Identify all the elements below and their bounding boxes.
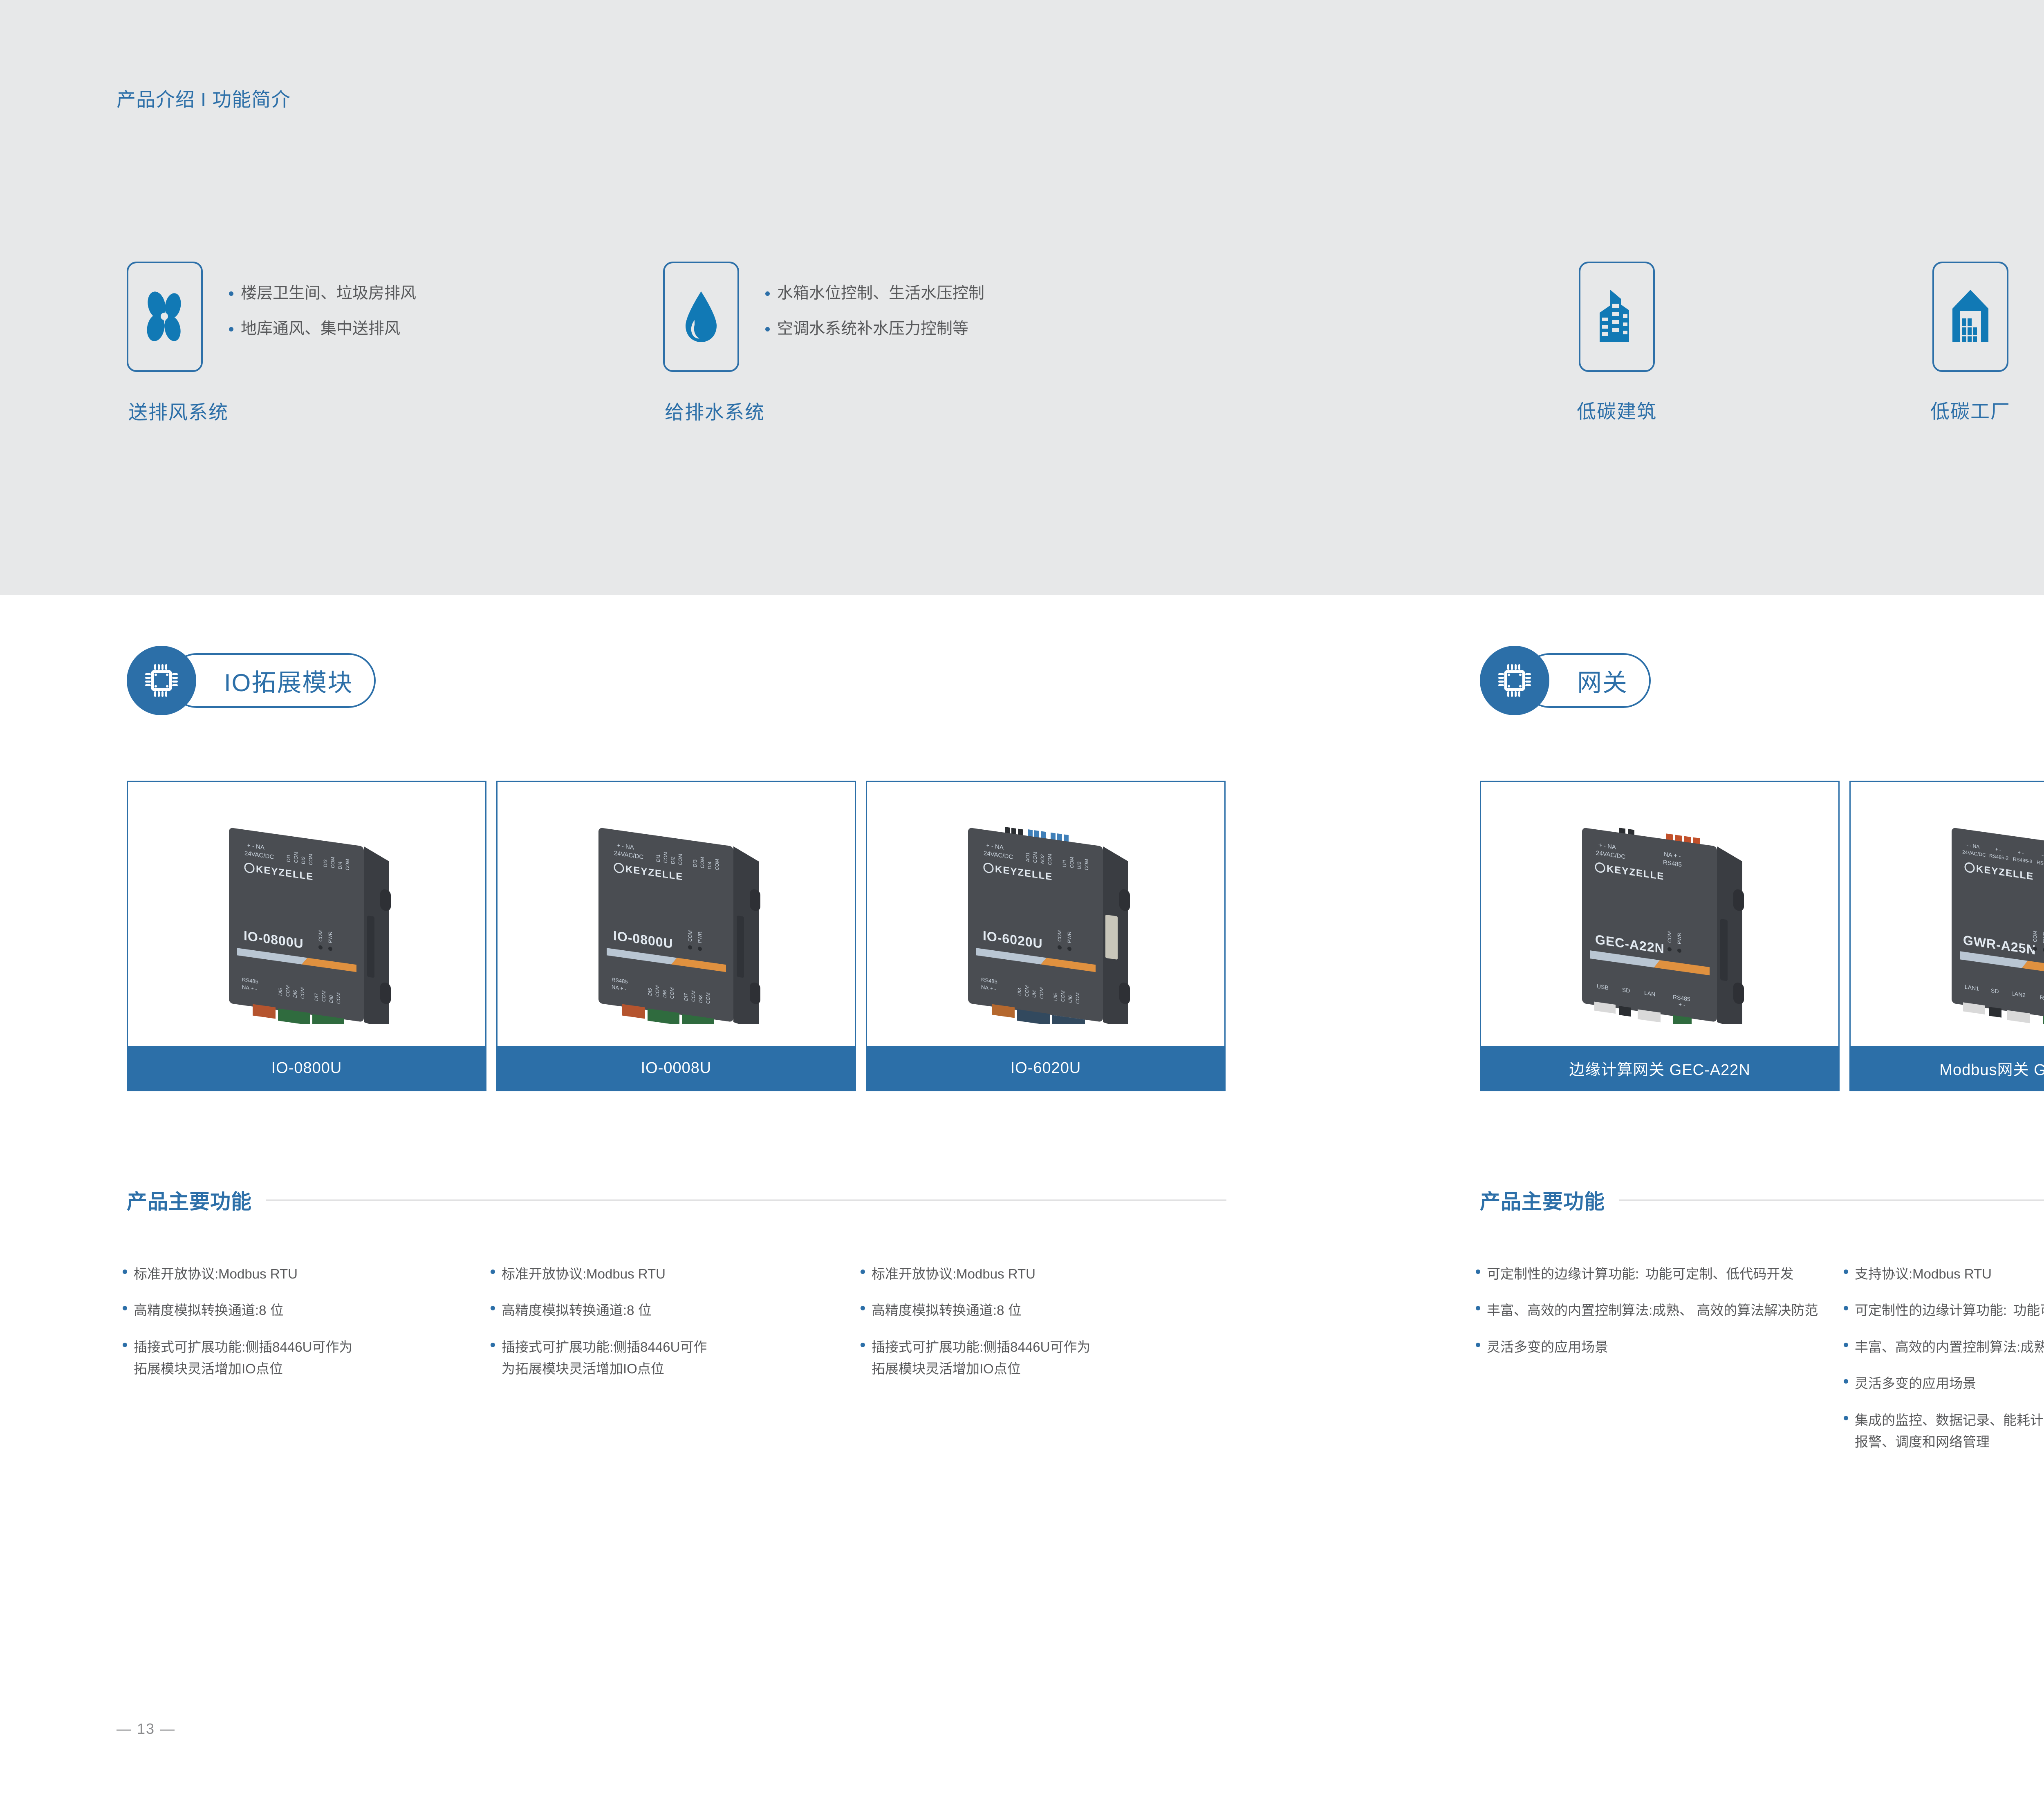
svg-text:UI2: UI2 [1076, 861, 1082, 870]
feature-text: 标准开放协议:Modbus RTU [502, 1263, 666, 1285]
svg-text:COM: COM [345, 858, 350, 871]
gateway-product-card-row: + - NA 24VAC/DC NA + - RS485 KEYZELLE GE… [1480, 781, 2044, 1091]
svg-text:DI1: DI1 [286, 854, 291, 862]
bullet-text: 空调水系统补水压力控制等 [777, 321, 968, 337]
low-carbon-factory-block: 低碳工厂 [1917, 262, 2024, 424]
bullet-dot-icon [1844, 1270, 1848, 1274]
feature-line: 标准开放协议:Modbus RTU [502, 1266, 666, 1281]
device-io-0008u: + - NA 24VAC/DC DI1 COM DI2 COM DI3 COM … [549, 804, 803, 1024]
feature-line: 为拓展模块灵活增加IO点位 [502, 1361, 664, 1376]
svg-text:COM: COM [330, 856, 336, 869]
svg-text:PWR: PWR [1676, 932, 1682, 945]
bullet-dot-icon [861, 1306, 865, 1310]
bullet-dot-icon [491, 1306, 495, 1310]
product-card[interactable]: + - NA 24VAC/DC DI1 COM DI2 COM DI3 COM … [127, 781, 486, 1091]
low-carbon-caption: 低碳工厂 [1917, 396, 2024, 424]
svg-text:UI6: UI6 [1067, 995, 1073, 1003]
gateway-feature-columns: 可定制性的边缘计算功能: 功能可定制、低代码开发 丰富、高效的内置控制算法:成熟… [1476, 1263, 2044, 1468]
product-label: IO-6020U [867, 1046, 1224, 1090]
water-drop-icon [681, 290, 722, 344]
product-card[interactable]: + - NA 24VAC/DC DI1 COM DI2 COM DI3 COM … [496, 781, 856, 1091]
feature-text: 灵活多变的应用场景 [1487, 1336, 1608, 1358]
svg-text:PWR: PWR [2042, 931, 2044, 944]
list-item: 插接式可扩展功能:侧插8446U可作 为拓展模块灵活增加IO点位 [491, 1336, 861, 1380]
list-item: 高精度模拟转换通道:8 位 [861, 1299, 1230, 1321]
page-number-left: — 13 — [117, 1720, 175, 1738]
svg-text:DI1: DI1 [655, 854, 661, 862]
feature-line: 支持协议:Modbus RTU [1855, 1266, 1992, 1281]
list-item: 丰富、高效的内置控制算法:成熟、 高效的算法解决方案 [1844, 1336, 2044, 1358]
feature-column: 可定制性的边缘计算功能: 功能可定制、低代码开发 丰富、高效的内置控制算法:成熟… [1476, 1263, 1844, 1468]
low-carbon-caption: 低碳建筑 [1564, 396, 1670, 424]
bullet-dot-icon [1476, 1343, 1480, 1347]
feature-line: 拓展模块灵活增加IO点位 [134, 1361, 283, 1376]
svg-text:COM: COM [308, 853, 314, 866]
svg-text:DI3: DI3 [323, 859, 328, 868]
product-photo: + - NA + - + - + - + - 24VAC/DC RS485-2 … [1851, 782, 2044, 1046]
svg-text:COM: COM [1075, 992, 1080, 1004]
bullet-dot-icon [765, 291, 770, 296]
bullet-dot-icon [229, 327, 233, 331]
list-item: 可定制性的边缘计算功能: 功能可定制、低代码开发 [1844, 1299, 2044, 1321]
brochure-spread: 产品介绍 I 功能简介 产品介绍 I 功能简介 楼层卫生间、垃圾房 [0, 0, 2044, 1798]
water-drop-icon-frame [663, 262, 739, 372]
product-label: 边缘计算网关 GEC-A22N [1481, 1046, 1838, 1090]
bullet-dot-icon [1844, 1306, 1848, 1310]
list-item: 标准开放协议:Modbus RTU [123, 1263, 491, 1285]
feature-text: 标准开放协议:Modbus RTU [134, 1263, 298, 1285]
svg-text:COM: COM [654, 985, 660, 997]
product-label: Modbus网关 GWR-A25N [1851, 1046, 2044, 1090]
svg-text:COM: COM [1039, 987, 1044, 999]
svg-text:COM: COM [699, 856, 705, 869]
list-item: 灵活多变的应用场景 [1476, 1336, 1844, 1358]
list-item: 灵活多变的应用场景 [1844, 1373, 2044, 1394]
feature-line: 报警、调度和网络管理 [1855, 1434, 1990, 1449]
bullet-text: 水箱水位控制、生活水压控制 [777, 285, 984, 301]
feature-line: 灵活多变的应用场景 [1487, 1339, 1608, 1355]
svg-text:AO2: AO2 [1040, 854, 1045, 864]
bullet-dot-icon [1844, 1379, 1848, 1384]
section-title: 产品主要功能 [1480, 1185, 1605, 1215]
feature-line: 插接式可扩展功能:侧插8446U可作 [502, 1339, 707, 1355]
feature-line: 拓展模块灵活增加IO点位 [872, 1361, 1021, 1376]
svg-text:COM: COM [663, 851, 668, 864]
heading-rule [1619, 1200, 2044, 1200]
list-item: 支持协议:Modbus RTU [1844, 1263, 2044, 1285]
feature-text: 标准开放协议:Modbus RTU [872, 1263, 1035, 1285]
svg-text:COM: COM [321, 990, 327, 1002]
device-gec-a22n: + - NA 24VAC/DC NA + - RS485 KEYZELLE GE… [1533, 804, 1786, 1024]
feature-line: 高精度模拟转换通道:8 位 [872, 1303, 1022, 1318]
section-title: 产品主要功能 [127, 1185, 252, 1215]
product-photo: + - NA 24VAC/DC NA + - RS485 KEYZELLE GE… [1481, 782, 1838, 1046]
gateway-features-heading: 产品主要功能 [1480, 1185, 2044, 1215]
feature-line: 高精度模拟转换通道:8 位 [502, 1303, 652, 1318]
feature-line: 可定制性的边缘计算功能: [1855, 1303, 2007, 1318]
svg-text:COM: COM [669, 987, 675, 999]
svg-text:DI6: DI6 [662, 990, 668, 998]
svg-text:COM: COM [705, 992, 711, 1004]
svg-text:+ -: + - [2042, 853, 2044, 859]
application-caption: 给排水系统 [665, 396, 765, 425]
device-gwr-a25n: + - NA + - + - + - + - 24VAC/DC RS485-2 … [1903, 804, 2044, 1024]
bullet-dot-icon [1476, 1306, 1480, 1310]
list-item: 插接式可扩展功能:侧插8446U可作为 拓展模块灵活增加IO点位 [861, 1336, 1230, 1380]
bullet-dot-icon [491, 1343, 495, 1347]
feature-line: 集成的监控、数据记录、能耗计量、 [1855, 1413, 2044, 1428]
svg-text:COM: COM [687, 930, 693, 942]
list-item: 水箱水位控制、生活水压控制 [765, 285, 984, 301]
list-item: 标准开放协议:Modbus RTU [491, 1263, 861, 1285]
svg-text:PWR: PWR [1067, 931, 1072, 943]
feature-text: 高精度模拟转换通道:8 位 [502, 1299, 652, 1321]
svg-text:COM: COM [1667, 931, 1672, 943]
feature-line: 高效的算法解决防范 [1697, 1303, 1818, 1318]
device-io-6020u: + - NA 24VAC/DC AO1 COM AO2 COM UI1 COM … [919, 804, 1172, 1024]
feature-text: 可定制性的边缘计算功能: 功能可定制、低代码开发 [1487, 1263, 1793, 1285]
bullet-dot-icon [123, 1306, 127, 1310]
list-item: 标准开放协议:Modbus RTU [861, 1263, 1230, 1285]
section-badge-label: 网关 [1577, 663, 1628, 699]
feature-text: 支持协议:Modbus RTU [1855, 1263, 1992, 1285]
product-photo: + - NA 24VAC/DC AO1 COM AO2 COM UI1 COM … [867, 782, 1224, 1046]
chip-icon [127, 646, 196, 715]
svg-text:COM: COM [690, 990, 696, 1002]
feature-line: 丰富、高效的内置控制算法:成熟、 [1855, 1339, 2044, 1355]
svg-text:AO1: AO1 [1025, 852, 1031, 862]
svg-text:DI2: DI2 [300, 856, 306, 864]
svg-text:SD: SD [1622, 986, 1630, 994]
svg-text:UI1: UI1 [1062, 859, 1067, 868]
product-card[interactable]: + - NA 24VAC/DC AO1 COM AO2 COM UI1 COM … [866, 781, 1226, 1091]
feature-line: 插接式可扩展功能:侧插8446U可作为 [134, 1339, 352, 1355]
svg-text:PWR: PWR [327, 931, 333, 943]
section-badge-label: IO拓展模块 [224, 663, 353, 699]
svg-text:COM: COM [1047, 853, 1053, 866]
device-io-0800u: + - NA 24VAC/DC DI1 COM DI2 COM DI3 COM … [180, 804, 433, 1024]
feature-column: 标准开放协议:Modbus RTU 高精度模拟转换通道:8 位 插接式可扩展功能… [123, 1263, 491, 1395]
bullet-dot-icon [765, 327, 770, 331]
feature-column: 支持协议:Modbus RTU 可定制性的边缘计算功能: 功能可定制、低代码开发… [1844, 1263, 2044, 1468]
svg-text:DI7: DI7 [314, 993, 319, 1001]
svg-text:+ -: + - [1995, 846, 2001, 853]
bullet-dot-icon [123, 1343, 127, 1347]
feature-text: 可定制性的边缘计算功能: 功能可定制、低代码开发 [1855, 1299, 2044, 1321]
bullet-text: 地库通风、集中送排风 [241, 321, 400, 337]
svg-text:DI5: DI5 [278, 987, 283, 996]
page-header-left: 产品介绍 I 功能简介 [117, 84, 291, 112]
svg-text:COM: COM [1069, 856, 1075, 869]
feature-column: 标准开放协议:Modbus RTU 高精度模拟转换通道:8 位 插接式可扩展功能… [861, 1263, 1230, 1395]
bullet-dot-icon [123, 1270, 127, 1274]
svg-text:DI5: DI5 [647, 987, 653, 996]
svg-text:+ -: + - [1679, 1001, 1685, 1008]
list-item: 插接式可扩展功能:侧插8446U可作为 拓展模块灵活增加IO点位 [123, 1336, 491, 1380]
svg-text:COM: COM [677, 853, 683, 866]
bullet-dot-icon [1476, 1270, 1480, 1274]
factory-icon-frame [1932, 262, 2008, 372]
bullet-dot-icon [491, 1270, 495, 1274]
bullet-dot-icon [861, 1343, 865, 1347]
feature-line: 灵活多变的应用场景 [1855, 1376, 1976, 1391]
feature-line: 功能可定制、低代码开发 [2010, 1303, 2044, 1318]
svg-text:DI4: DI4 [707, 861, 713, 870]
svg-text:COM: COM [285, 985, 291, 997]
svg-text:DI8: DI8 [698, 995, 704, 1003]
feature-text: 丰富、高效的内置控制算法:成熟、 高效的算法解决防范 [1487, 1299, 1818, 1321]
feature-text: 插接式可扩展功能:侧插8446U可作 为拓展模块灵活增加IO点位 [502, 1336, 861, 1380]
feature-text: 集成的监控、数据记录、能耗计量、 报警、调度和网络管理 [1855, 1409, 2044, 1453]
svg-text:DI4: DI4 [337, 861, 343, 870]
svg-text:SD: SD [1991, 987, 1999, 995]
low-carbon-building-block: 低碳建筑 [1564, 262, 1670, 424]
svg-text:COM: COM [1057, 930, 1062, 942]
product-photo: + - NA 24VAC/DC DI1 COM DI2 COM DI3 COM … [498, 782, 855, 1046]
fan-icon [140, 291, 189, 343]
application-block-water: 水箱水位控制、生活水压控制 空调水系统补水压力控制等 给排水系统 [663, 262, 1154, 441]
bullet-text: 楼层卫生间、垃圾房排风 [241, 285, 416, 301]
svg-text:DI6: DI6 [292, 990, 298, 998]
svg-text:+ -: + - [2018, 849, 2024, 856]
water-bullet-list: 水箱水位控制、生活水压控制 空调水系统补水压力控制等 [765, 285, 984, 337]
product-label: IO-0008U [498, 1046, 855, 1090]
bullet-dot-icon [861, 1270, 865, 1274]
feature-line: 丰富、高效的内置控制算法:成熟、 [1487, 1303, 1693, 1318]
feature-text: 高精度模拟转换通道:8 位 [872, 1299, 1022, 1321]
io-features-heading: 产品主要功能 [127, 1185, 1226, 1215]
chip-icon [1480, 646, 1549, 715]
io-product-card-row: + - NA 24VAC/DC DI1 COM DI2 COM DI3 COM … [127, 781, 1226, 1091]
product-photo: + - NA 24VAC/DC DI1 COM DI2 COM DI3 COM … [128, 782, 485, 1046]
factory-icon [1948, 287, 1993, 347]
product-label: IO-0800U [128, 1046, 485, 1090]
svg-text:DI3: DI3 [692, 859, 698, 868]
heading-rule [266, 1200, 1226, 1200]
svg-text:COM: COM [1084, 858, 1089, 871]
feature-line: 插接式可扩展功能:侧插8446U可作为 [872, 1339, 1090, 1355]
feature-line: 标准开放协议:Modbus RTU [134, 1266, 298, 1281]
application-block-ventilation: 楼层卫生间、垃圾房排风 地库通风、集中送排风 送排风系统 [127, 262, 617, 441]
section-badge-pill: IO拓展模块 [169, 653, 376, 708]
svg-text:UI4: UI4 [1031, 990, 1037, 998]
office-building-icon [1594, 287, 1640, 347]
svg-text:DI8: DI8 [328, 995, 334, 1003]
list-item: 地库通风、集中送排风 [229, 321, 416, 337]
svg-text:COM: COM [293, 851, 299, 864]
svg-text:DI2: DI2 [670, 856, 676, 864]
svg-text:COM: COM [1024, 985, 1030, 997]
svg-text:COM: COM [714, 858, 720, 871]
list-item: 丰富、高效的内置控制算法:成熟、 高效的算法解决防范 [1476, 1299, 1844, 1321]
feature-line: 标准开放协议:Modbus RTU [872, 1266, 1035, 1281]
product-card[interactable]: + - NA 24VAC/DC NA + - RS485 KEYZELLE GE… [1480, 781, 1840, 1091]
bullet-dot-icon [1844, 1343, 1848, 1347]
feature-text: 高精度模拟转换通道:8 位 [134, 1299, 284, 1321]
feature-text: 插接式可扩展功能:侧插8446U可作为 拓展模块灵活增加IO点位 [134, 1336, 491, 1380]
feature-line: 高精度模拟转换通道:8 位 [134, 1303, 284, 1318]
fan-icon-frame [127, 262, 203, 372]
bullet-dot-icon [229, 291, 233, 296]
office-building-icon-frame [1579, 262, 1655, 372]
list-item: 楼层卫生间、垃圾房排风 [229, 285, 416, 301]
application-caption: 送排风系统 [128, 396, 229, 425]
svg-text:COM: COM [1032, 851, 1038, 864]
svg-text:COM: COM [336, 992, 341, 1004]
ventilation-bullet-list: 楼层卫生间、垃圾房排风 地库通风、集中送排风 [229, 285, 416, 337]
product-card[interactable]: + - NA + - + - + - + - 24VAC/DC RS485-2 … [1849, 781, 2044, 1091]
list-item: 高精度模拟转换通道:8 位 [123, 1299, 491, 1321]
feature-text: 灵活多变的应用场景 [1855, 1373, 1976, 1394]
svg-text:COM: COM [300, 987, 305, 999]
svg-text:UI3: UI3 [1017, 987, 1022, 996]
bullet-dot-icon [1844, 1416, 1848, 1420]
feature-column: 标准开放协议:Modbus RTU 高精度模拟转换通道:8 位 插接式可扩展功能… [491, 1263, 861, 1395]
svg-text:UI5: UI5 [1053, 993, 1058, 1001]
feature-text: 丰富、高效的内置控制算法:成熟、 高效的算法解决方案 [1855, 1336, 2044, 1358]
list-item: 集成的监控、数据记录、能耗计量、 报警、调度和网络管理 [1844, 1409, 2044, 1453]
io-feature-columns: 标准开放协议:Modbus RTU 高精度模拟转换通道:8 位 插接式可扩展功能… [123, 1263, 1230, 1395]
list-item: 高精度模拟转换通道:8 位 [491, 1299, 861, 1321]
svg-text:PWR: PWR [697, 931, 703, 943]
svg-text:COM: COM [2032, 930, 2038, 943]
svg-text:DI7: DI7 [683, 993, 689, 1001]
feature-line: 可定制性的边缘计算功能: [1487, 1266, 1639, 1281]
list-item: 可定制性的边缘计算功能: 功能可定制、低代码开发 [1476, 1263, 1844, 1285]
svg-text:COM: COM [318, 930, 323, 942]
list-item: 空调水系统补水压力控制等 [765, 321, 984, 337]
feature-line: 功能可定制、低代码开发 [1643, 1266, 1793, 1281]
svg-text:COM: COM [1060, 990, 1066, 1002]
feature-text: 插接式可扩展功能:侧插8446U可作为 拓展模块灵活增加IO点位 [872, 1336, 1230, 1380]
